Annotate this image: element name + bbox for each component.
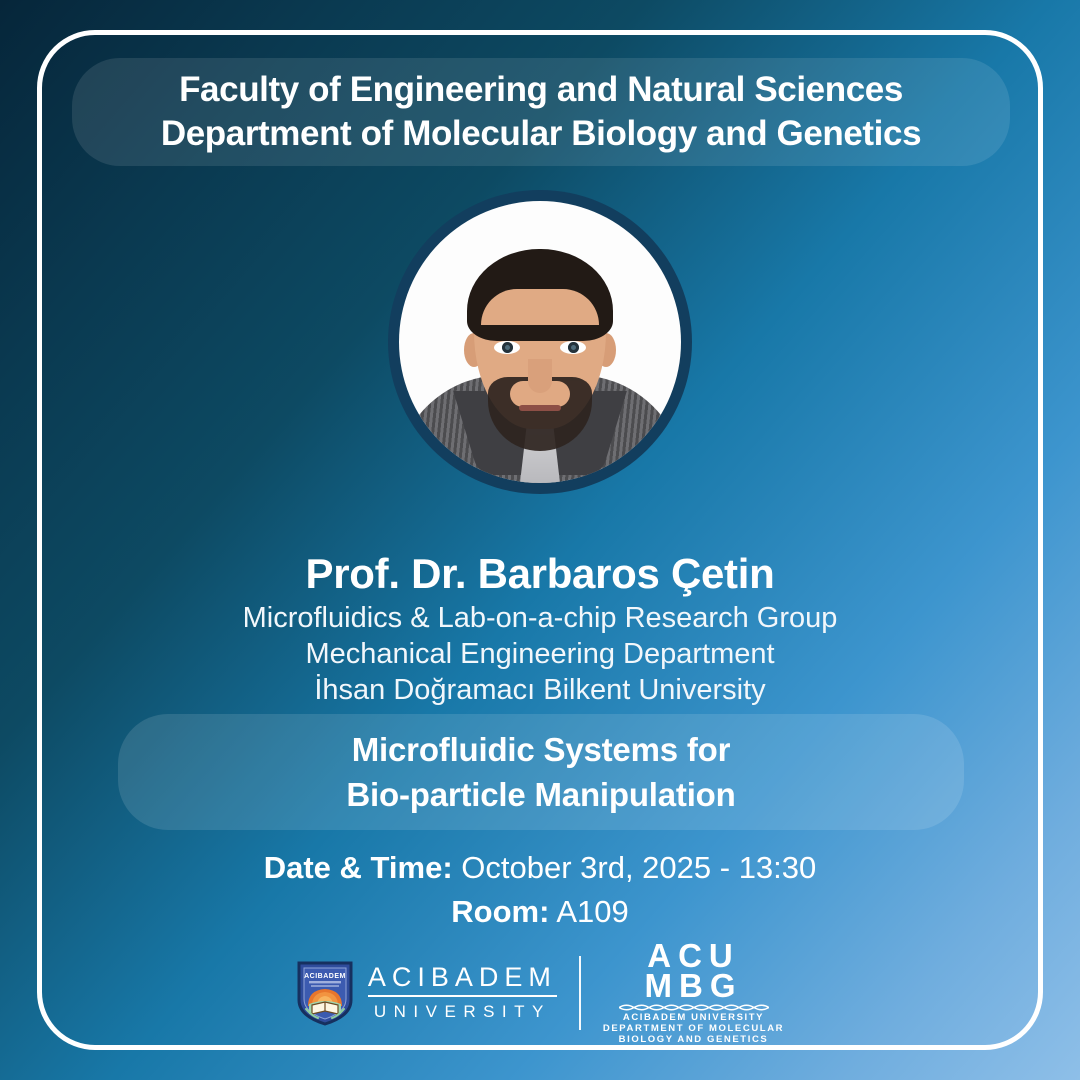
acibadem-wordmark: ACIBADEM UNIVERSITY [368, 962, 557, 1024]
acibadem-subtitle: UNIVERSITY [368, 997, 557, 1024]
speaker-block: Prof. Dr. Barbaros Çetin Microfluidics &… [0, 548, 1080, 708]
svg-text:ACIBADEM: ACIBADEM [304, 973, 346, 980]
acu-mbg-caption-1: ACIBADEM UNIVERSITY [623, 1012, 764, 1023]
speaker-portrait [388, 190, 692, 494]
event-details: Date & Time: October 3rd, 2025 - 13:30 R… [0, 846, 1080, 934]
portrait-eye-left [494, 341, 520, 354]
portrait-hair [467, 249, 613, 341]
talk-title-line-1: Microfluidic Systems for [352, 727, 730, 772]
talk-title-line-2: Bio-particle Manipulation [346, 772, 735, 817]
room-value: A109 [556, 894, 628, 929]
room-label: Room: [451, 894, 549, 929]
datetime-value: October 3rd, 2025 - 13:30 [461, 850, 816, 885]
datetime-row: Date & Time: October 3rd, 2025 - 13:30 [0, 846, 1080, 890]
acu-mbg-caption-3: BIOLOGY AND GENETICS [619, 1034, 769, 1045]
acibadem-name: ACIBADEM [368, 962, 557, 997]
talk-title-banner: Microfluidic Systems for Bio-particle Ma… [118, 714, 964, 830]
acibadem-crest-icon: ACIBADEM [296, 960, 354, 1026]
header-banner: Faculty of Engineering and Natural Scien… [72, 58, 1010, 166]
portrait-mouth [519, 405, 561, 411]
acu-mbg-logo: ACU MBG ACIBADEM UNIVERSITY DEPARTMENT O… [603, 941, 784, 1045]
speaker-name: Prof. Dr. Barbaros Çetin [0, 548, 1080, 600]
room-row: Room: A109 [0, 890, 1080, 934]
datetime-label: Date & Time: [264, 850, 453, 885]
portrait-nose [528, 359, 552, 393]
dna-helix-icon [619, 1003, 769, 1012]
affiliation-line-university: İhsan Doğramacı Bilkent University [0, 672, 1080, 708]
header-line-faculty: Faculty of Engineering and Natural Scien… [179, 68, 903, 112]
acibadem-university-logo: ACIBADEM ACIBADEM UNIVERSITY [296, 960, 557, 1026]
portrait-eye-right [560, 341, 586, 354]
acu-mbg-caption-2: DEPARTMENT OF MOLECULAR [603, 1023, 784, 1034]
acu-mbg-line-2: MBG [645, 971, 743, 1001]
affiliation-line-department: Mechanical Engineering Department [0, 636, 1080, 672]
logo-row: ACIBADEM ACIBADEM UNIVERSITY [0, 950, 1080, 1036]
header-line-department: Department of Molecular Biology and Gene… [161, 112, 921, 156]
portrait-photo [399, 201, 681, 483]
logo-divider [579, 956, 581, 1030]
affiliation-line-group: Microfluidics & Lab-on-a-chip Research G… [0, 600, 1080, 636]
seminar-poster: Faculty of Engineering and Natural Scien… [0, 0, 1080, 1080]
